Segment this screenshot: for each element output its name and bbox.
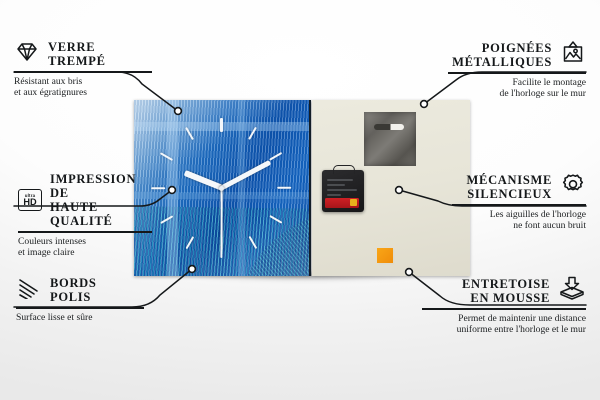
feature-rule [14,71,152,73]
feature-title: ENTRETOISE EN MOUSSE [462,277,550,305]
feature-title-line1: MÉCANISME [467,173,552,187]
feature-rule [16,307,144,309]
feature-title-line1: POIGNÉES [482,41,552,55]
clock-back-panel [312,100,471,276]
gear-icon [560,172,586,201]
feature-title-line2: EN MOUSSE [470,291,550,305]
ultra-hd-bottom-text: HD [23,198,36,208]
diamond-icon [14,41,40,68]
foam-spacer-icon [558,276,586,305]
feature-title-line2: HAUTE QUALITÉ [50,200,113,228]
feature-title: IMPRESSION DE HAUTE QUALITÉ [50,172,154,228]
feature-rule [452,204,586,206]
feature-rule [18,231,152,233]
feature-subtitle-line1: Couleurs intenses [18,236,86,247]
movement-detail-line [327,184,345,186]
battery [325,198,359,208]
foam-spacer [377,248,393,263]
feature-title-line2: SILENCIEUX [467,187,552,201]
feature-subtitle: Surface lisse et sûre [16,312,146,323]
hanger-slot [374,124,404,130]
feature-subtitle-line2: de l'horloge sur le mur [500,88,586,99]
polished-edges-icon [16,277,42,304]
feature-impression-haute-qualite: ultra HD IMPRESSION DE HAUTE QUALITÉ Cou… [18,172,154,258]
feature-subtitle-line1: Permet de maintenir une distance [458,313,586,324]
feature-mecanisme-silencieux: MÉCANISME SILENCIEUX Les aiguilles de l'… [450,172,586,231]
movement-handle [333,165,355,174]
clock-center-hub [219,186,224,191]
movement-detail-line [327,189,357,191]
feature-subtitle-line2: uniforme entre l'horloge et le mur [457,324,586,335]
picture-hanger-icon [560,40,586,69]
feature-verre-trempe: VERRE TREMPÉ Résistant aux bris et aux é… [14,40,154,98]
quartz-movement [322,170,364,212]
feature-entretoise-en-mousse: ENTRETOISE EN MOUSSE Permet de maintenir… [420,276,586,335]
feature-subtitle-line2: et aux égratignures [14,87,87,98]
metal-hanger-plate [364,112,416,166]
feature-rule [422,308,586,310]
feature-rule [448,72,586,74]
feature-subtitle-line2: et image claire [18,247,74,258]
feature-subtitle-line1: Résistant aux bris [14,76,82,87]
movement-detail-line [327,194,341,196]
feature-title-line2: TREMPÉ [48,54,106,68]
infographic-canvas: VERRE TREMPÉ Résistant aux bris et aux é… [0,0,600,400]
feature-title-line1: ENTRETOISE [462,277,550,291]
feature-subtitle-line1: Les aiguilles de l'horloge [490,209,586,220]
feature-title-line2: MÉTALLIQUES [452,55,552,69]
feature-title-line1: IMPRESSION DE [50,172,136,200]
feature-title: BORDS POLIS [50,276,97,304]
feature-title-line2: POLIS [50,290,91,304]
battery-terminal [350,199,357,206]
feature-subtitle: Facilite le montage de l'horloge sur le … [446,77,586,100]
feature-subtitle: Résistant aux bris et aux égratignures [14,76,154,99]
feature-subtitle: Les aiguilles de l'horloge ne font aucun… [450,209,586,232]
feature-subtitle-line1: Surface lisse et sûre [16,312,92,323]
feature-subtitle-line2: ne font aucun bruit [513,220,586,231]
feature-subtitle: Permet de maintenir une distance uniform… [420,313,586,336]
clock-front-face [134,100,311,276]
feature-subtitle-line1: Facilite le montage [512,77,586,88]
movement-detail-line [327,179,353,181]
feature-bords-polis: BORDS POLIS Surface lisse et sûre [16,276,146,323]
product-image [134,100,470,276]
feature-title-line1: VERRE [48,40,95,54]
ultra-hd-badge-icon: ultra HD [18,189,42,211]
feature-title-line1: BORDS [50,276,97,290]
feature-title: POIGNÉES MÉTALLIQUES [452,41,552,69]
feature-poignees-metalliques: POIGNÉES MÉTALLIQUES Facilite le montage… [446,40,586,99]
feature-subtitle: Couleurs intenses et image claire [18,236,154,259]
clock-second-hand [221,188,223,250]
feature-title: MÉCANISME SILENCIEUX [467,173,552,201]
feature-title: VERRE TREMPÉ [48,40,106,68]
